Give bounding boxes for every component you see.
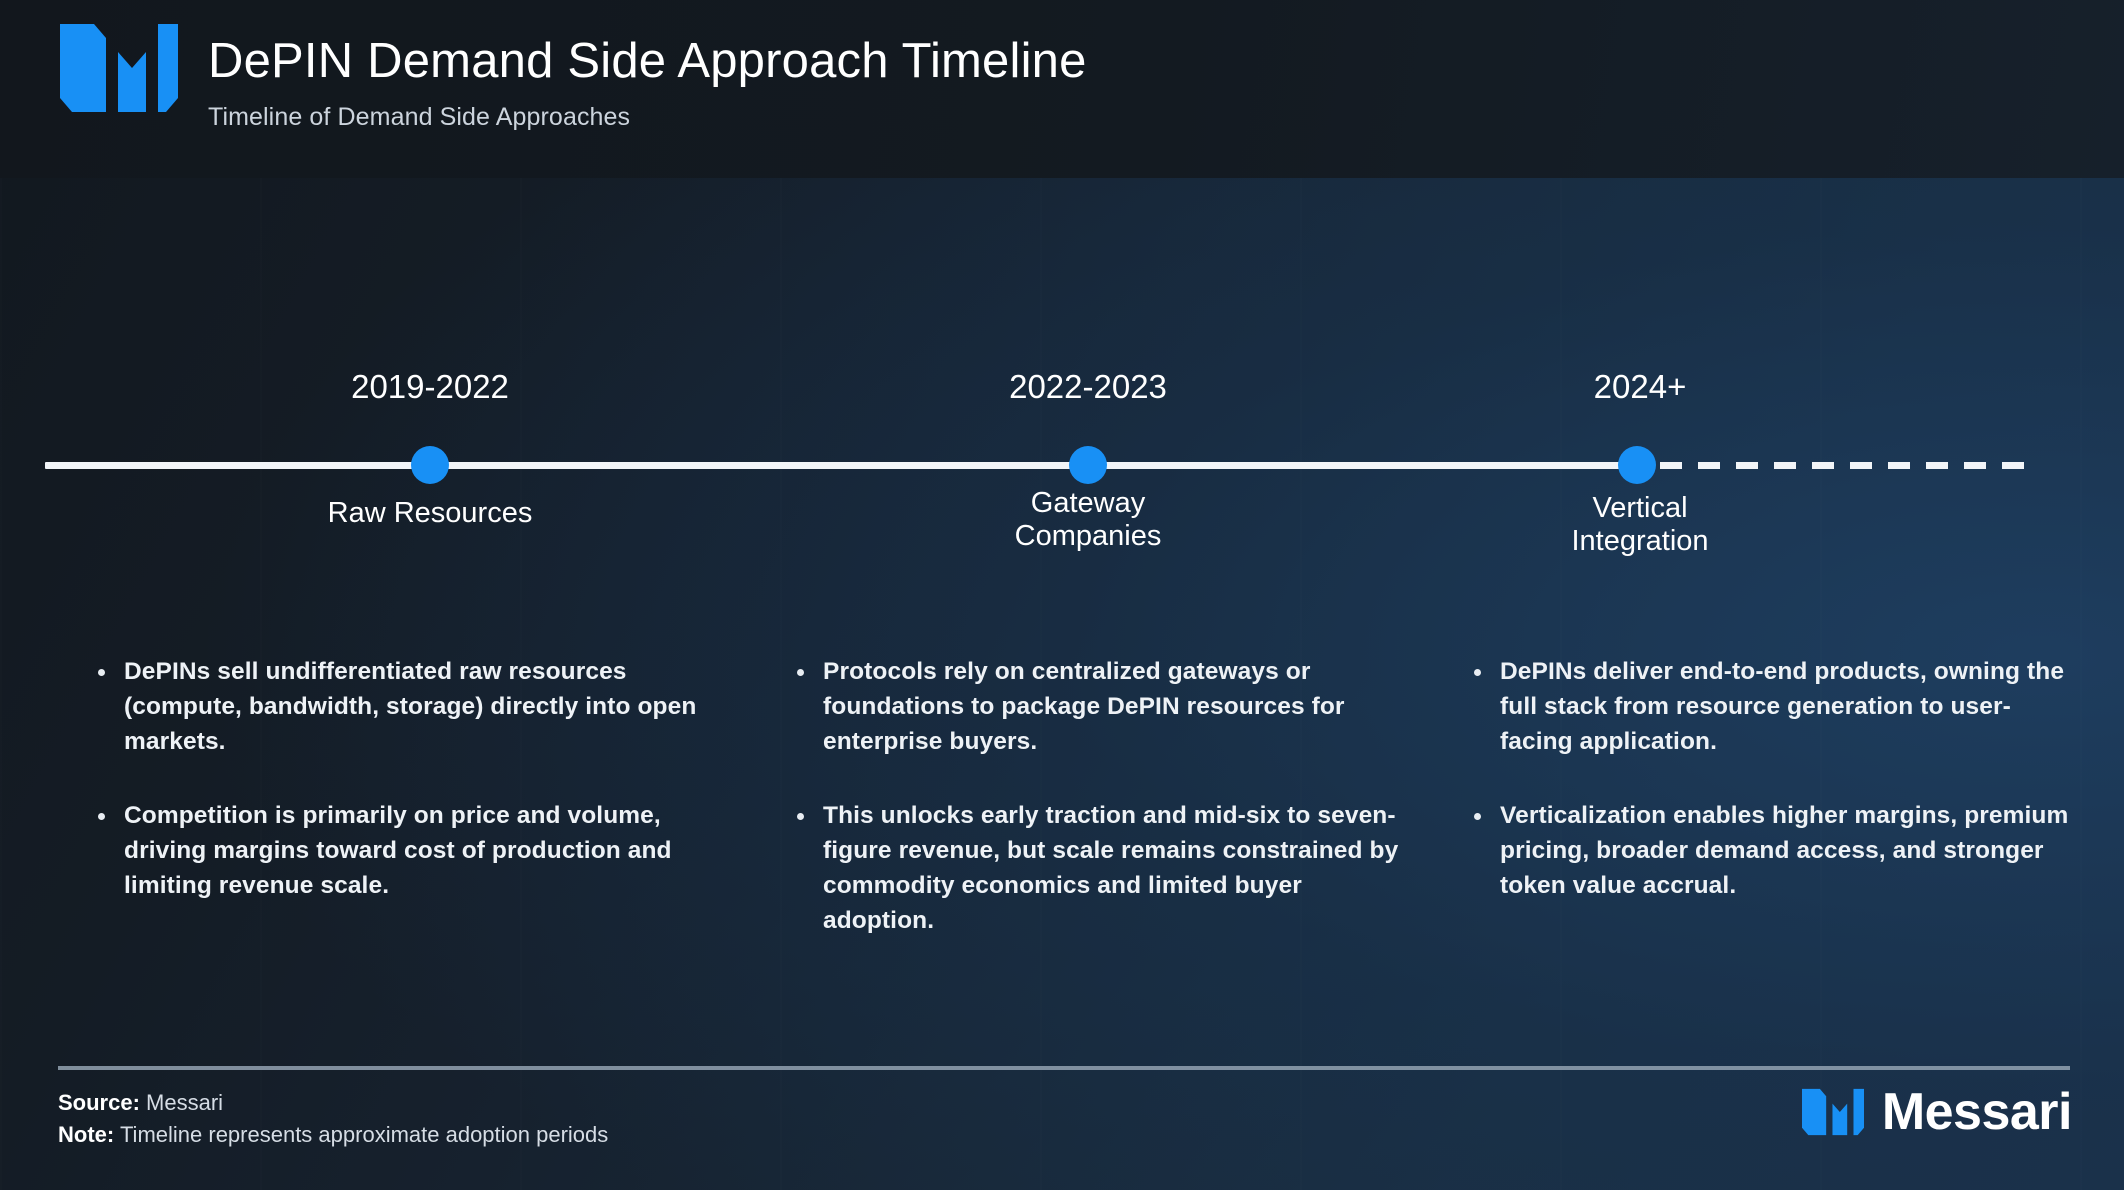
header-text-group: DePIN Demand Side Approach Timeline Time…	[208, 36, 1087, 132]
page-subtitle: Timeline of Demand Side Approaches	[208, 103, 1087, 132]
timeline-axis-solid	[45, 462, 1637, 469]
timeline-node-label-2: Gateway Companies	[1015, 487, 1162, 553]
timeline-era-label-1: 2019-2022	[351, 368, 509, 406]
list-item: Competition is primarily on price and vo…	[96, 799, 736, 903]
timeline-axis-dashed	[1660, 462, 2038, 469]
timeline-node-label-3: Vertical Integration	[1571, 492, 1708, 558]
page-title: DePIN Demand Side Approach Timeline	[208, 36, 1087, 87]
note-line: Note: Timeline represents approximate ad…	[58, 1119, 608, 1151]
list-item: This unlocks early traction and mid-six …	[795, 799, 1415, 938]
timeline-era-label-3: 2024+	[1594, 368, 1687, 406]
source-line: Source: Messari	[58, 1087, 608, 1119]
timeline-node-2[interactable]	[1069, 446, 1107, 484]
detail-column-3: DePINs deliver end-to-end products, owni…	[1472, 655, 2077, 904]
source-label: Source:	[58, 1090, 140, 1115]
list-item: DePINs deliver end-to-end products, owni…	[1472, 655, 2077, 759]
source-value: Messari	[146, 1090, 223, 1115]
note-value: Timeline represents approximate adoption…	[120, 1122, 608, 1147]
footer-brand: Messari	[1802, 1083, 2072, 1141]
list-item: Verticalization enables higher margins, …	[1472, 799, 2077, 903]
messari-logo-icon	[60, 24, 178, 112]
list-item: DePINs sell undifferentiated raw resourc…	[96, 655, 736, 759]
header-bar: DePIN Demand Side Approach Timeline Time…	[0, 0, 2124, 178]
timeline-node-3[interactable]	[1618, 446, 1656, 484]
list-item: Protocols rely on centralized gateways o…	[795, 655, 1415, 759]
footer-meta: Source: Messari Note: Timeline represent…	[58, 1087, 608, 1151]
footer-divider	[58, 1066, 2070, 1070]
infographic-canvas: DePIN Demand Side Approach Timeline Time…	[0, 0, 2124, 1190]
timeline-node-label-1: Raw Resources	[328, 497, 533, 530]
messari-logo-icon	[1802, 1083, 1864, 1141]
note-label: Note:	[58, 1122, 114, 1147]
detail-column-2: Protocols rely on centralized gateways o…	[795, 655, 1415, 938]
detail-column-1: DePINs sell undifferentiated raw resourc…	[96, 655, 736, 904]
timeline-node-1[interactable]	[411, 446, 449, 484]
timeline-era-label-2: 2022-2023	[1009, 368, 1167, 406]
brand-wordmark: Messari	[1882, 1086, 2072, 1138]
